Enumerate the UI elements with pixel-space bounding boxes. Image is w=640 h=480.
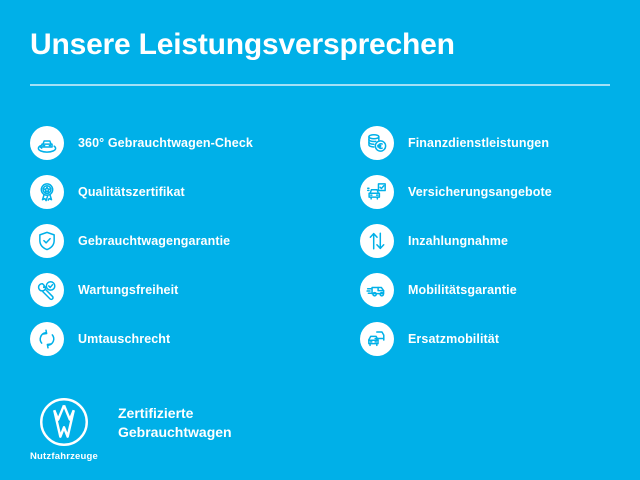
benefit-item-qualitaetszertifikat[interactable]: Qualitätszertifikat [30,167,320,216]
footer-claim: Zertifizierte Gebrauchtwagen [118,404,232,442]
benefit-label: 360° Gebrauchtwagen-Check [78,136,253,150]
benefit-label: Inzahlungnahme [408,234,508,248]
benefit-item-gebrauchtwagen-check[interactable]: 360° Gebrauchtwagen-Check [30,118,320,167]
footer-claim-line2: Gebrauchtwagen [118,423,232,442]
benefit-item-mobilitaetsgarantie[interactable]: Mobilitätsgarantie [360,265,640,314]
car-document-check-icon [360,175,394,209]
logo-subtitle: Nutzfahrzeuge [30,451,98,462]
coins-euro-icon [360,126,394,160]
award-rosette-icon [30,175,64,209]
benefits-column-right: Finanzdienstleistungen Versicherungsange… [320,118,640,363]
benefits-columns: 360° Gebrauchtwagen-Check Qualitätszerti… [0,118,640,363]
benefit-item-inzahlungnahme[interactable]: Inzahlungnahme [360,216,640,265]
benefit-item-wartungsfreiheit[interactable]: Wartungsfreiheit [30,265,320,314]
volkswagen-logo [38,396,90,448]
title-divider [30,84,610,86]
benefit-label: Qualitätszertifikat [78,185,185,199]
benefit-item-ersatzmobilitaet[interactable]: Ersatzmobilität [360,314,640,363]
up-down-arrows-icon [360,224,394,258]
exchange-arrows-icon [30,322,64,356]
promise-slide: Unsere Leistungsversprechen 360° Gebrauc… [0,0,640,480]
benefit-label: Versicherungsangebote [408,185,552,199]
benefit-label: Gebrauchtwagengarantie [78,234,230,248]
benefit-item-versicherungsangebote[interactable]: Versicherungsangebote [360,167,640,216]
benefit-item-finanzdienstleistungen[interactable]: Finanzdienstleistungen [360,118,640,167]
page-title: Unsere Leistungsversprechen [30,28,455,62]
logo-block: Nutzfahrzeuge [30,396,98,462]
footer-claim-line1: Zertifizierte [118,404,232,423]
benefit-item-gebrauchtwagengarantie[interactable]: Gebrauchtwagengarantie [30,216,320,265]
two-cars-icon [360,322,394,356]
benefit-label: Ersatzmobilität [408,332,499,346]
footer: Nutzfahrzeuge Zertifizierte Gebrauchtwag… [30,396,232,462]
shield-check-icon [30,224,64,258]
benefit-label: Wartungsfreiheit [78,283,178,297]
benefit-label: Finanzdienstleistungen [408,136,549,150]
car-360-check-icon [30,126,64,160]
benefit-label: Mobilitätsgarantie [408,283,517,297]
benefit-item-umtauschrecht[interactable]: Umtauschrecht [30,314,320,363]
benefits-column-left: 360° Gebrauchtwagen-Check Qualitätszerti… [0,118,320,363]
benefit-label: Umtauschrecht [78,332,170,346]
van-motion-icon [360,273,394,307]
wrench-check-icon [30,273,64,307]
